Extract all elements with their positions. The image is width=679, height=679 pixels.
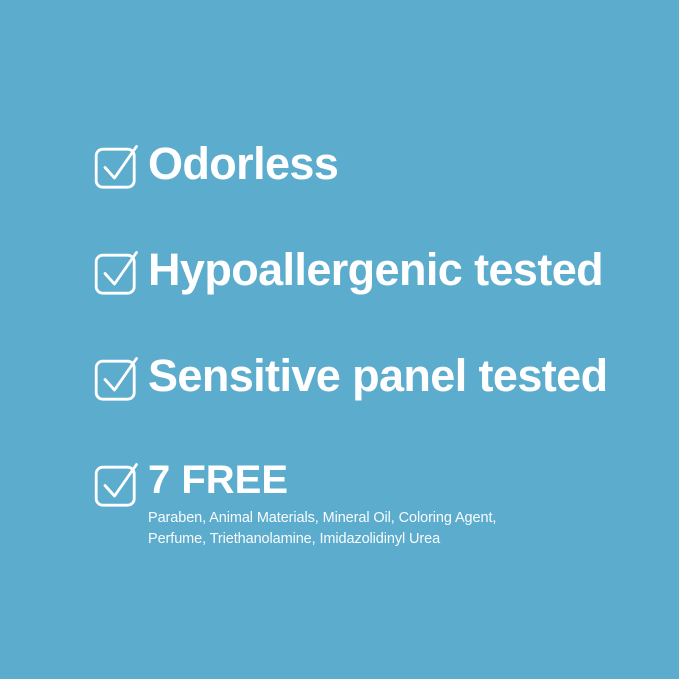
feature-title: Hypoallergenic tested [148,246,634,294]
feature-title: 7 FREE [148,458,634,502]
checked-checkbox-icon [94,356,140,404]
feature-item-odorless: Odorless [94,140,634,192]
feature-title: Sensitive panel tested [148,352,634,400]
feature-item-sensitive-panel-tested: Sensitive panel tested [94,352,634,404]
feature-subtext-line: Perfume, Triethanolamine, Imidazolidinyl… [148,529,634,550]
checked-checkbox-icon [94,250,140,298]
feature-subtext: Paraben, Animal Materials, Mineral Oil, … [148,508,634,550]
feature-item-hypoallergenic-tested: Hypoallergenic tested [94,246,634,298]
feature-text-block: Odorless [148,140,634,188]
checked-checkbox-icon [94,144,140,192]
checked-checkbox-icon [94,462,140,510]
feature-list: Odorless Hypoallergenic tested [94,140,634,550]
feature-title: Odorless [148,140,634,188]
feature-item-7-free: 7 FREE Paraben, Animal Materials, Minera… [94,458,634,550]
feature-text-block: 7 FREE Paraben, Animal Materials, Minera… [148,458,634,550]
feature-text-block: Hypoallergenic tested [148,246,634,294]
feature-subtext-line: Paraben, Animal Materials, Mineral Oil, … [148,508,634,529]
product-feature-card: Odorless Hypoallergenic tested [0,0,679,679]
feature-text-block: Sensitive panel tested [148,352,634,400]
